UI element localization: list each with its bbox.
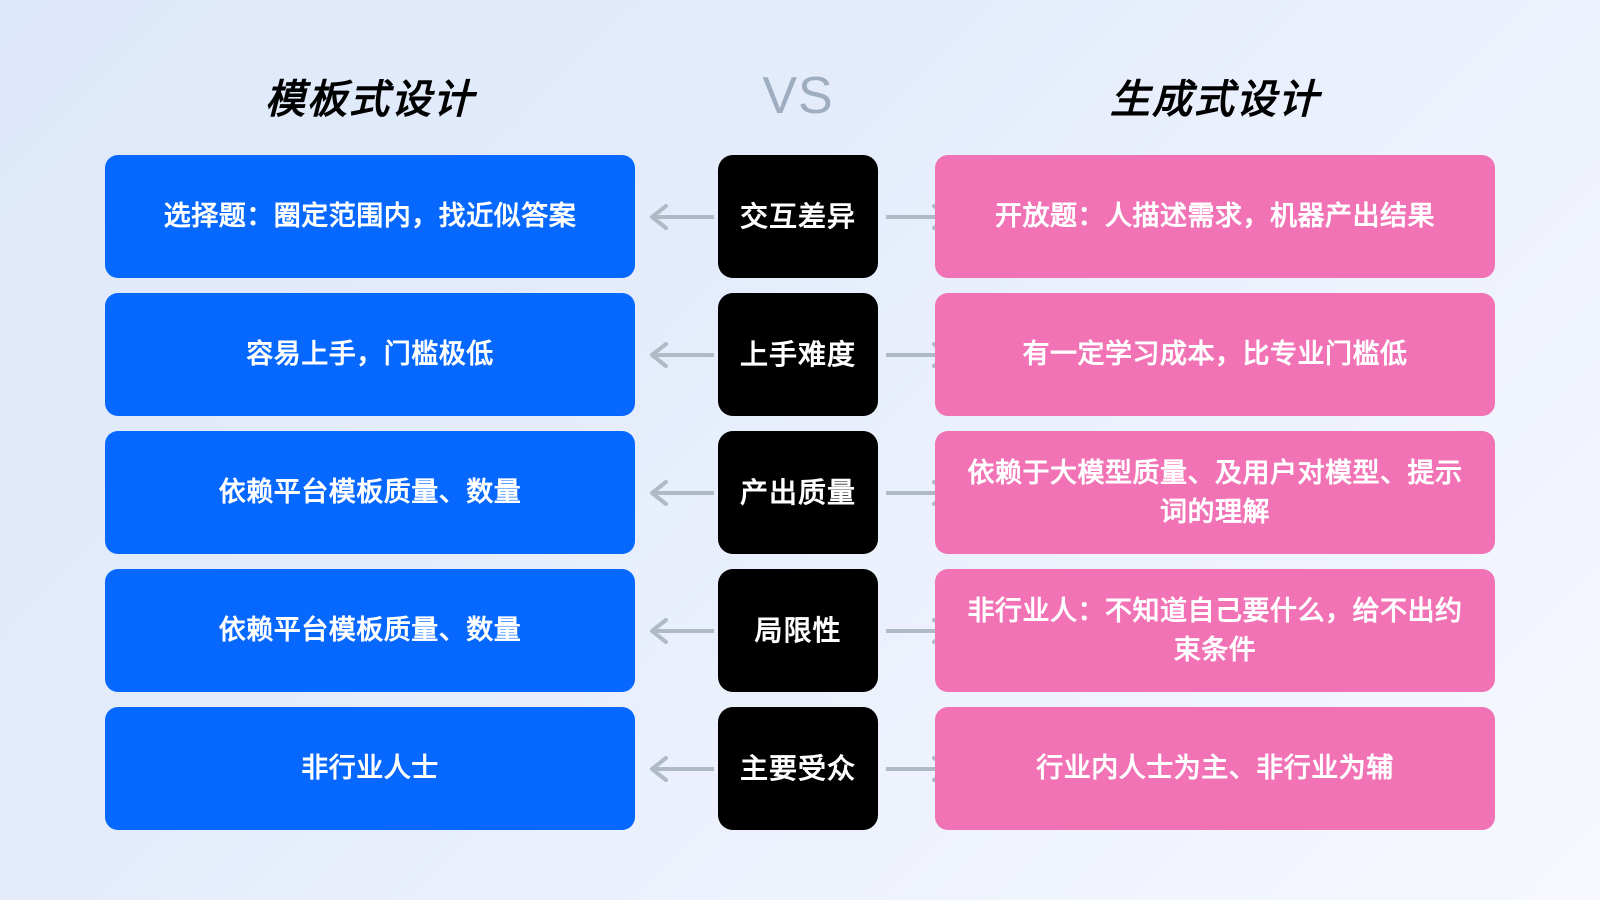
arrow-left-icon <box>644 616 716 646</box>
arrow-left-icon <box>644 478 716 508</box>
dimension-label-box[interactable]: 局限性 <box>718 569 878 692</box>
comparison-row: 非行业人士 主要受众 行业内人士为主、非行业为辅 <box>0 707 1600 830</box>
comparison-board: 模板式设计 VS 生成式设计 选择题：圈定范围内，找近似答案 交互差异 开放题：… <box>0 0 1600 900</box>
vs-label: VS <box>718 56 878 136</box>
right-value-box[interactable]: 行业内人士为主、非行业为辅 <box>935 707 1495 830</box>
comparison-row: 选择题：圈定范围内，找近似答案 交互差异 开放题：人描述需求，机器产出结果 <box>0 155 1600 278</box>
arrow-left-icon <box>644 340 716 370</box>
arrow-left-icon <box>644 754 716 784</box>
left-column-title: 模板式设计 <box>105 56 635 136</box>
comparison-row: 依赖平台模板质量、数量 产出质量 依赖于大模型质量、及用户对模型、提示词的理解 <box>0 431 1600 554</box>
left-value-box[interactable]: 非行业人士 <box>105 707 635 830</box>
dimension-label-box[interactable]: 上手难度 <box>718 293 878 416</box>
left-value-box[interactable]: 依赖平台模板质量、数量 <box>105 431 635 554</box>
left-value-box[interactable]: 选择题：圈定范围内，找近似答案 <box>105 155 635 278</box>
right-value-box[interactable]: 有一定学习成本，比专业门槛低 <box>935 293 1495 416</box>
dimension-label-box[interactable]: 主要受众 <box>718 707 878 830</box>
comparison-rows: 选择题：圈定范围内，找近似答案 交互差异 开放题：人描述需求，机器产出结果 容易… <box>0 155 1600 845</box>
right-value-box[interactable]: 开放题：人描述需求，机器产出结果 <box>935 155 1495 278</box>
dimension-label-box[interactable]: 产出质量 <box>718 431 878 554</box>
right-column-title: 生成式设计 <box>935 56 1495 136</box>
right-value-box[interactable]: 依赖于大模型质量、及用户对模型、提示词的理解 <box>935 431 1495 554</box>
arrow-left-icon <box>644 202 716 232</box>
left-value-box[interactable]: 依赖平台模板质量、数量 <box>105 569 635 692</box>
right-value-box[interactable]: 非行业人：不知道自己要什么，给不出约束条件 <box>935 569 1495 692</box>
comparison-row: 依赖平台模板质量、数量 局限性 非行业人：不知道自己要什么，给不出约束条件 <box>0 569 1600 692</box>
comparison-row: 容易上手，门槛极低 上手难度 有一定学习成本，比专业门槛低 <box>0 293 1600 416</box>
header-row: 模板式设计 VS 生成式设计 <box>0 56 1600 136</box>
dimension-label-box[interactable]: 交互差异 <box>718 155 878 278</box>
left-value-box[interactable]: 容易上手，门槛极低 <box>105 293 635 416</box>
